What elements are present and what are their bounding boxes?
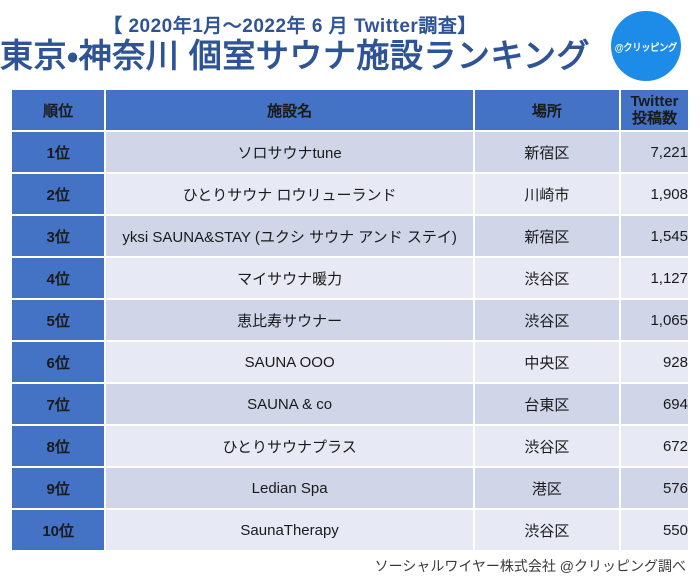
table-row: 6位SAUNA OOO中央区928 [12,342,688,382]
column-header-facility-name: 施設名 [106,90,472,130]
location-cell: 台東区 [475,384,619,424]
tweet-count-cell: 1,127 [621,258,688,298]
tweet-count-cell: 1,545 [621,216,688,256]
rank-cell: 6位 [12,342,104,382]
table-row: 4位マイサウナ暖力渋谷区1,127 [12,258,688,298]
clipping-logo-label: @クリッピング [615,39,677,54]
facility-name-cell: 恵比寿サウナー [106,300,472,340]
table-header-row: 順位 施設名 場所 Twitter 投稿数 [12,90,688,130]
table-header: 順位 施設名 場所 Twitter 投稿数 [12,90,688,130]
rank-cell: 9位 [12,468,104,508]
tweet-count-cell: 7,221 [621,132,688,172]
rank-cell: 10位 [12,510,104,550]
page-title: 東京・神奈川 個室サウナ施設ランキング [0,34,590,78]
location-cell: 川崎市 [475,174,619,214]
location-cell: 新宿区 [475,216,619,256]
rank-cell: 8位 [12,426,104,466]
source-note: ソーシャルワイヤー株式会社 @クリッピング調べ [0,556,686,576]
facility-name-cell: ひとりサウナプラス [106,426,472,466]
location-cell: 中央区 [475,342,619,382]
facility-name-cell: SAUNA OOO [106,342,472,382]
location-cell: 新宿区 [475,132,619,172]
facility-name-cell: SaunaTherapy [106,510,472,550]
table-row: 1位ソロサウナtune新宿区7,221 [12,132,688,172]
location-cell: 渋谷区 [475,510,619,550]
rank-cell: 2位 [12,174,104,214]
tweet-count-cell: 1,908 [621,174,688,214]
tweet-count-cell: 550 [621,510,688,550]
table-row: 9位Ledian Spa港区576 [12,468,688,508]
column-header-location: 場所 [475,90,619,130]
column-header-tweet-count: Twitter 投稿数 [621,90,688,130]
table-row: 2位ひとりサウナ ロウリューランド川崎市1,908 [12,174,688,214]
table-row: 5位恵比寿サウナー渋谷区1,065 [12,300,688,340]
column-header-rank: 順位 [12,90,104,130]
tweet-count-cell: 694 [621,384,688,424]
tweet-count-cell: 1,065 [621,300,688,340]
facility-name-cell: SAUNA & co [106,384,472,424]
table-row: 7位SAUNA & co台東区694 [12,384,688,424]
tweet-count-cell: 928 [621,342,688,382]
clipping-logo-badge: @クリッピング [611,11,681,81]
tweet-count-cell: 576 [621,468,688,508]
location-cell: 港区 [475,468,619,508]
facility-name-cell: yksi SAUNA&STAY (ユクシ サウナ アンド ステイ) [106,216,472,256]
location-cell: 渋谷区 [475,300,619,340]
table-body: 1位ソロサウナtune新宿区7,2212位ひとりサウナ ロウリューランド川崎市1… [12,132,688,550]
table-row: 8位ひとりサウナプラス渋谷区672 [12,426,688,466]
tweet-count-cell: 672 [621,426,688,466]
facility-name-cell: マイサウナ暖力 [106,258,472,298]
facility-name-cell: ひとりサウナ ロウリューランド [106,174,472,214]
column-header-tweet-count-line2: 投稿数 [621,110,688,127]
location-cell: 渋谷区 [475,426,619,466]
rank-cell: 4位 [12,258,104,298]
rank-cell: 5位 [12,300,104,340]
ranking-table: 順位 施設名 場所 Twitter 投稿数 1位ソロサウナtune新宿区7,22… [10,88,690,552]
location-cell: 渋谷区 [475,258,619,298]
rank-cell: 7位 [12,384,104,424]
table-row: 3位yksi SAUNA&STAY (ユクシ サウナ アンド ステイ)新宿区1,… [12,216,688,256]
page-header: 【 2020年1月～2022年 6 月 Twitter調査】 東京・神奈川 個室… [0,0,700,88]
facility-name-cell: ソロサウナtune [106,132,472,172]
rank-cell: 1位 [12,132,104,172]
column-header-tweet-count-line1: Twitter [621,93,688,110]
rank-cell: 3位 [12,216,104,256]
table-row: 10位SaunaTherapy渋谷区550 [12,510,688,550]
facility-name-cell: Ledian Spa [106,468,472,508]
